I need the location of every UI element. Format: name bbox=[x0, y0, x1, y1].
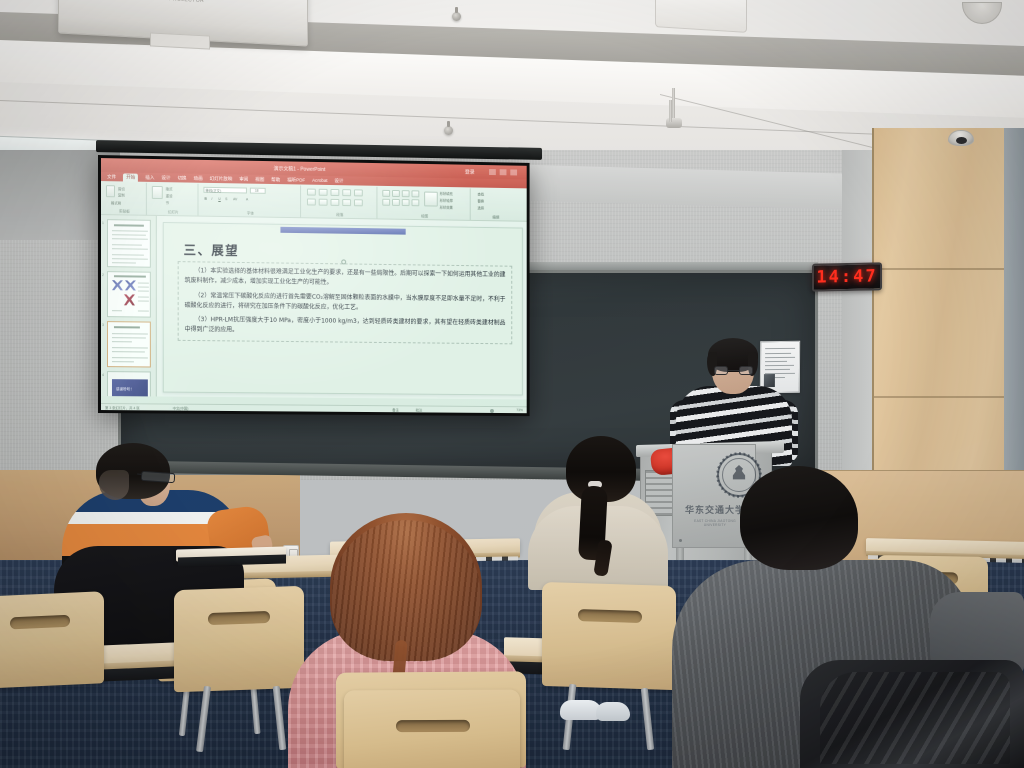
shape-fill-button[interactable]: 形状填充 bbox=[440, 191, 453, 196]
select-button[interactable]: 选择 bbox=[477, 205, 484, 210]
text-direction-icon[interactable] bbox=[354, 189, 363, 196]
slide-number-1: 1 bbox=[102, 221, 104, 225]
slide-body-placeholder[interactable]: （1）本实验选择的基体材料很难满足工业化生产的要求，还是有一些局限性。后期可以探… bbox=[178, 261, 513, 344]
jacket-folds bbox=[820, 672, 1010, 764]
underline-button[interactable]: U bbox=[218, 197, 220, 201]
tab-file[interactable]: 文件 bbox=[107, 174, 116, 180]
ribbon-group-label-editing: 编辑 bbox=[473, 215, 519, 221]
numbering-icon[interactable] bbox=[319, 189, 328, 196]
audience-front-hair-strands bbox=[332, 520, 480, 662]
tab-view[interactable]: 视图 bbox=[255, 176, 264, 182]
shape-star-icon[interactable] bbox=[392, 199, 400, 206]
shape-oval-icon[interactable] bbox=[392, 190, 400, 197]
ribbon-group-editing[interactable]: 查找 替换 选择 编辑 bbox=[473, 188, 519, 220]
wall-digital-clock: 14:47 bbox=[812, 262, 882, 291]
wood-panel-seam bbox=[874, 268, 1024, 270]
eyeglass-lens-left bbox=[714, 366, 728, 375]
clipboard-item-formatpainter[interactable]: 格式刷 bbox=[111, 200, 121, 205]
find-button[interactable]: 查找 bbox=[477, 191, 484, 196]
zoom-slider-handle[interactable] bbox=[490, 408, 494, 412]
slide-number-3: 3 bbox=[102, 323, 104, 327]
slides-item-section[interactable]: 节 bbox=[166, 200, 169, 205]
font-color-button[interactable]: A bbox=[246, 197, 248, 201]
chair-handle-slot bbox=[396, 720, 470, 732]
audience-right-hair bbox=[740, 466, 858, 570]
slide-page[interactable]: 三、展望 （1）本实验选择的基体材料很难满足工业化生产的要求，还是有一些局限性。… bbox=[163, 222, 523, 395]
columns-icon[interactable] bbox=[354, 199, 363, 206]
slide-canvas[interactable]: 三、展望 （1）本实验选择的基体材料很难满足工业化生产的要求，还是有一些局限性。… bbox=[157, 216, 527, 400]
shape-callout-icon[interactable] bbox=[402, 199, 410, 206]
new-slide-icon[interactable] bbox=[152, 186, 163, 199]
slides-item-layout[interactable]: 版式 bbox=[166, 186, 173, 191]
shape-line-icon[interactable] bbox=[412, 190, 420, 197]
tab-transitions[interactable]: 切换 bbox=[177, 175, 186, 181]
clipboard-item-cut[interactable]: 剪切 bbox=[118, 186, 125, 191]
shape-banner-icon[interactable] bbox=[412, 199, 420, 206]
ribbon-group-slides[interactable]: 版式 重设 节 幻灯片 bbox=[149, 183, 199, 216]
slide-paragraph-2: （2）常温常压下碳酸化反应的进行首先需要CO₂溶解至固体颗粒表面的水膜中，当水膜… bbox=[185, 291, 506, 315]
projection-screen: 演示文稿1 - PowerPoint 登录 文件 开始 插入 设计 切换 动画 … bbox=[98, 155, 530, 416]
classroom-chair bbox=[174, 586, 304, 693]
line-spacing-icon[interactable] bbox=[342, 189, 351, 196]
italic-button[interactable]: I bbox=[211, 197, 212, 201]
close-button[interactable] bbox=[510, 169, 517, 175]
projector-label: PROJECTOR bbox=[169, 0, 204, 4]
wood-panel-seam bbox=[874, 396, 1024, 398]
slide-paragraph-3: （3）HPR-LM抗压强度大于10 MPa，密度小于1000 kg/m3，达到轻… bbox=[185, 315, 506, 338]
bold-button[interactable]: B bbox=[204, 197, 206, 201]
podium-university-name-cn: 华东交通大学 bbox=[683, 503, 747, 516]
eyeglass-bridge bbox=[728, 370, 739, 371]
tab-foxit-pdf[interactable]: 福昕PDF bbox=[287, 177, 305, 183]
zoom-level[interactable]: 73% bbox=[516, 409, 523, 413]
shape-effects-button[interactable]: 形状效果 bbox=[440, 205, 453, 210]
eyeglass-lens-right bbox=[739, 366, 753, 375]
tab-design-ideas[interactable]: 设计 bbox=[334, 178, 343, 184]
shape-outline-button[interactable]: 形状轮廓 bbox=[440, 198, 453, 203]
slides-item-reset[interactable]: 重设 bbox=[166, 193, 173, 198]
slide-heading: 三、展望 bbox=[184, 239, 239, 259]
security-camera-icon bbox=[948, 130, 974, 146]
shape-triangle-icon[interactable] bbox=[382, 199, 390, 206]
pipe-drop bbox=[669, 100, 672, 122]
maximize-button[interactable] bbox=[500, 169, 507, 175]
align-right-icon[interactable] bbox=[330, 199, 339, 206]
shape-arrow-icon[interactable] bbox=[402, 190, 410, 197]
audience-left-hair-fade bbox=[99, 470, 129, 500]
slide-4-caption: 感谢聆听！ bbox=[116, 387, 134, 392]
ribbon-group-label-slides: 幻灯片 bbox=[149, 210, 198, 216]
tab-review[interactable]: 审阅 bbox=[239, 176, 248, 182]
tab-slideshow[interactable]: 幻灯片放映 bbox=[210, 175, 233, 181]
podium-screw bbox=[679, 539, 682, 542]
presenter-eyeglasses bbox=[714, 366, 753, 375]
tab-help[interactable]: 帮助 bbox=[271, 177, 280, 183]
selected-title-placeholder[interactable] bbox=[280, 227, 405, 235]
slide-thumbnail-2[interactable] bbox=[107, 271, 151, 317]
ribbon-group-font[interactable]: 等线(正文) 18 B I U S AV A 字体 bbox=[200, 184, 301, 217]
strikethrough-button[interactable]: S bbox=[225, 197, 227, 201]
ribbon-group-drawing[interactable]: 形状填充 形状轮廓 形状效果 绘图 bbox=[379, 187, 470, 220]
chair-handle-slot bbox=[10, 615, 70, 630]
quick-styles-icon[interactable] bbox=[424, 192, 438, 207]
tab-acrobat[interactable]: Acrobat bbox=[312, 178, 328, 183]
shape-rect-icon[interactable] bbox=[382, 190, 390, 197]
sprinkler-head bbox=[452, 12, 461, 21]
tab-animations[interactable]: 动画 bbox=[194, 175, 203, 181]
podium-university-name-en: EAST CHINA JIAOTONG UNIVERSITY bbox=[683, 519, 747, 527]
slide-thumbnail-3[interactable] bbox=[107, 321, 151, 367]
app-title: 演示文稿1 - PowerPoint bbox=[274, 165, 326, 173]
clipboard-item-copy[interactable]: 复制 bbox=[118, 192, 125, 197]
ribbon-group-clipboard[interactable]: 剪切 复制 格式刷 剪贴板 bbox=[103, 182, 147, 215]
classroom-photo: PROJECTOR 演示文稿1 - PowerPoint bbox=[0, 0, 1024, 768]
chair-handle-slot bbox=[578, 609, 642, 623]
classroom-chair bbox=[0, 591, 104, 689]
clock-time: 14:47 bbox=[816, 266, 877, 287]
replace-button[interactable]: 替换 bbox=[477, 198, 484, 203]
classroom-chair bbox=[344, 690, 520, 768]
char-spacing-button[interactable]: AV bbox=[233, 197, 237, 201]
sprinkler-head bbox=[444, 126, 453, 135]
paste-icon[interactable] bbox=[106, 185, 115, 197]
align-left-icon[interactable] bbox=[307, 198, 316, 205]
align-justify-icon[interactable] bbox=[342, 199, 351, 206]
slide-thumbnail-1[interactable] bbox=[107, 219, 151, 268]
bullets-icon[interactable] bbox=[307, 189, 316, 196]
tab-home[interactable]: 开始 bbox=[123, 173, 138, 181]
ribbon-group-paragraph[interactable]: 段落 bbox=[303, 186, 377, 219]
ceiling-speaker bbox=[655, 0, 747, 33]
tab-design[interactable]: 设计 bbox=[161, 175, 170, 181]
account-label[interactable]: 登录 bbox=[465, 169, 475, 176]
font-size-value: 18 bbox=[255, 189, 259, 193]
poster-thumbnail bbox=[764, 374, 775, 387]
minimize-button[interactable] bbox=[489, 169, 496, 175]
classroom-chair bbox=[542, 582, 676, 690]
ceiling-dome-speaker bbox=[962, 2, 1002, 24]
slide-thumbnail-pane[interactable]: 1 2 bbox=[101, 215, 157, 396]
font-name-value: 等线(正文) bbox=[205, 188, 221, 193]
align-center-icon[interactable] bbox=[319, 199, 328, 206]
slide-number-2: 2 bbox=[102, 273, 104, 277]
ribbon-group-label-clipboard: 剪贴板 bbox=[103, 209, 146, 215]
slide-thumbnail-4[interactable]: 感谢聆听！ bbox=[107, 371, 151, 396]
projected-desktop: 演示文稿1 - PowerPoint 登录 文件 开始 插入 设计 切换 动画 … bbox=[101, 158, 527, 413]
wall-notice-poster bbox=[760, 341, 800, 393]
slide-number-4: 4 bbox=[102, 373, 104, 377]
shoe bbox=[596, 702, 630, 721]
tab-insert[interactable]: 插入 bbox=[145, 174, 154, 180]
indent-icon[interactable] bbox=[330, 189, 339, 196]
chair-handle-slot bbox=[208, 611, 270, 625]
slide-paragraph-1: （1）本实验选择的基体材料很难满足工业化生产的要求，还是有一些局限性。后期可以探… bbox=[185, 266, 506, 290]
